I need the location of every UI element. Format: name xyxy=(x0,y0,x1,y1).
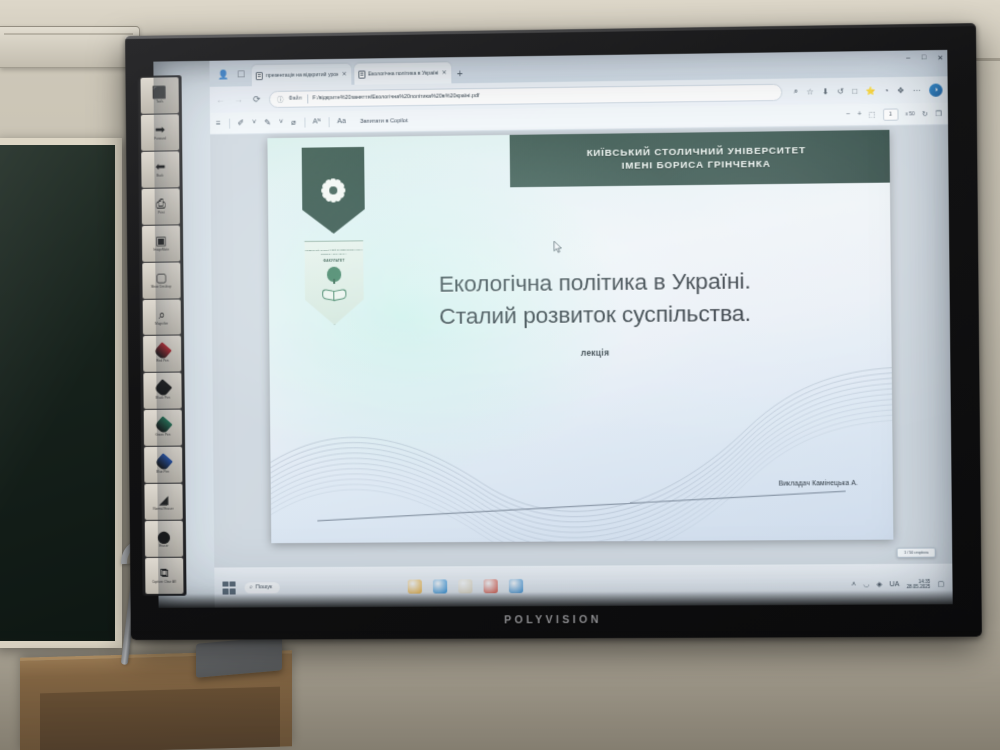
page-number-input[interactable]: 1 xyxy=(883,108,899,120)
erase-icon[interactable]: ⌀ xyxy=(291,118,296,127)
pen-icon xyxy=(154,453,172,471)
tab-favicon xyxy=(256,72,263,80)
rosette-flower-icon xyxy=(318,175,349,205)
start-icon[interactable] xyxy=(222,581,235,594)
slide-title-block: Екологічна політика в Україні. Сталий ро… xyxy=(331,264,861,360)
magnifier-icon: ⌕ xyxy=(158,309,165,321)
edge-browser-window[interactable]: 👤 ☐ презентація на відкритий урок ✕ Екол… xyxy=(209,50,952,608)
file-info-icon[interactable]: ⓘ xyxy=(277,94,284,104)
decorative-wave-lines xyxy=(270,367,894,543)
mouse-cursor-icon xyxy=(553,241,562,253)
close-button[interactable]: ✕ xyxy=(937,54,943,62)
address-bar[interactable]: ⓘ Файл F:/відкрите%20заняття/Екологічна%… xyxy=(269,83,783,107)
chevron-up-icon[interactable]: ˄ xyxy=(852,581,856,588)
search-icon[interactable]: ⌕ xyxy=(794,87,799,97)
rail-key-label: Blue Pen xyxy=(157,470,170,474)
rail-key-black-pen[interactable]: Black Pen xyxy=(143,373,181,409)
back-icon[interactable]: ← xyxy=(215,95,226,105)
window-controls[interactable]: – □ ✕ xyxy=(906,54,943,63)
camera-icon: ▣ xyxy=(155,235,166,247)
rail-key-capture-clear-all[interactable]: ⧉Capture Clear All xyxy=(145,558,183,594)
slide-subtitle: лекція xyxy=(332,345,861,360)
university-name-line1: КИЇВСЬКИЙ СТОЛИЧНИЙ УНІВЕРСИТЕТ xyxy=(587,145,806,159)
interactive-whiteboard[interactable]: POLYVISION ⬛Tools➡Forward⬅Back⎙Print▣Ima… xyxy=(125,23,982,640)
system-tray[interactable]: ˄ ◡ ◈ UA 14:35 28.05.2025 ▢ xyxy=(852,578,945,590)
toolbar-divider xyxy=(229,118,230,128)
favorite-star-icon[interactable]: ☆ xyxy=(806,87,813,96)
rail-key-label: ImageMate xyxy=(153,248,169,252)
rail-key-eraser[interactable]: ⬤Eraser xyxy=(145,521,183,557)
notification-icon[interactable]: ▢ xyxy=(937,580,944,588)
draw-icon[interactable]: ✎ xyxy=(264,118,271,127)
floor-shading xyxy=(0,630,1000,750)
close-icon[interactable]: ✕ xyxy=(442,69,447,76)
classroom-scene: POLYVISION ⬛Tools➡Forward⬅Back⎙Print▣Ima… xyxy=(0,0,1000,750)
whiteboard-tool-rail[interactable]: ⬛Tools➡Forward⬅Back⎙Print▣ImageMate▢Show… xyxy=(137,75,186,596)
capture-icon: ⧉ xyxy=(160,567,169,579)
omnibox-divider xyxy=(307,94,308,103)
page-view-icon[interactable]: ❐ xyxy=(935,109,942,117)
rail-key-magnifier[interactable]: ⌕Magnifier xyxy=(143,299,181,335)
rail-key-back[interactable]: ⬅Back xyxy=(141,151,179,187)
slide-header-band: КИЇВСЬКИЙ СТОЛИЧНИЙ УНІВЕРСИТЕТ ІМЕНІ БО… xyxy=(510,130,890,187)
rail-key-label: Capture Clear All xyxy=(152,580,176,584)
rail-key-normal-eraser[interactable]: ◢Normal Eraser xyxy=(144,484,182,520)
whiteboard-screen[interactable]: 👤 ☐ презентація на відкритий урок ✕ Екол… xyxy=(153,50,952,608)
chevron-down-icon[interactable]: ˅ xyxy=(279,119,283,126)
presentation-slide: КИЇВСЬКИЙ СТОЛИЧНИЙ УНІВЕРСИТЕТ ІМЕНІ БО… xyxy=(267,130,893,543)
rail-key-label: Forward xyxy=(154,137,165,141)
rail-key-label: Red Pen xyxy=(156,359,168,363)
tab-title: презентація на відкритий урок xyxy=(266,71,339,78)
browser-tab-2[interactable]: Екологічна політика в Україні ✕ xyxy=(354,62,451,85)
monitor-icon: ▢ xyxy=(156,272,167,284)
crest-caption-top: КИЇВСЬКИЙ СТОЛИЧНИЙ УНІВЕРСИТЕТ ІМЕНІ БО… xyxy=(304,248,365,256)
zoom-out-button[interactable]: − xyxy=(846,111,850,118)
chrome-icon[interactable] xyxy=(484,579,498,593)
rail-key-imagemate[interactable]: ▣ImageMate xyxy=(142,225,180,261)
clock-date: 28.05.2025 xyxy=(907,584,931,590)
edge-icon[interactable] xyxy=(433,579,447,593)
browser-tab-1[interactable]: презентація на відкритий урок ✕ xyxy=(252,64,351,86)
forward-icon[interactable]: → xyxy=(233,94,244,104)
rotate-icon[interactable]: ↻ xyxy=(922,110,928,118)
url-text[interactable]: F:/відкрите%20заняття/Екологічна%20політ… xyxy=(313,89,775,102)
tab-title: Екологічна політика в Україні xyxy=(368,70,439,77)
rail-key-forward[interactable]: ➡Forward xyxy=(141,114,179,150)
wall-duct xyxy=(0,26,140,68)
rail-key-tools[interactable]: ⬛Tools xyxy=(141,77,179,113)
language-icon[interactable]: UA xyxy=(889,581,899,588)
more-options-icon[interactable]: ⋯ xyxy=(913,85,921,94)
mail-icon[interactable] xyxy=(459,579,473,593)
rail-key-label: Eraser xyxy=(159,543,168,547)
taskbar-search-box[interactable]: ⌕ Пошук xyxy=(245,582,281,593)
rail-key-show-desktop[interactable]: ▢Show Desktop xyxy=(142,262,180,298)
toolbar-divider xyxy=(304,117,305,127)
tab-favicon xyxy=(358,70,365,78)
slide-author: Викладач Камінецька А. xyxy=(779,480,858,488)
minimize-button[interactable]: – xyxy=(906,55,910,63)
browser-icon[interactable] xyxy=(509,579,523,593)
maximize-button[interactable]: □ xyxy=(921,54,925,62)
history-icon[interactable]: ↺ xyxy=(837,86,844,95)
highlight-icon[interactable]: ✐ xyxy=(237,118,244,127)
text-options-icon[interactable]: Aa xyxy=(337,118,346,125)
copilot-icon[interactable]: ◑ xyxy=(929,83,943,96)
fit-page-icon[interactable]: ⬚ xyxy=(869,110,876,118)
rail-key-red-pen[interactable]: Red Pen xyxy=(143,336,181,372)
chevron-down-icon[interactable]: ˅ xyxy=(252,119,256,126)
file-explorer-icon[interactable] xyxy=(408,580,422,594)
ask-copilot-button[interactable]: Запитати в Copilot xyxy=(360,118,408,125)
zoom-in-button[interactable]: + xyxy=(857,111,861,118)
crest-banner xyxy=(302,147,365,234)
split-screen-icon[interactable]: □ xyxy=(852,86,857,95)
collections-icon[interactable]: ⭐ xyxy=(865,86,875,95)
downloads-icon[interactable]: ⬇ xyxy=(822,87,829,96)
taskbar-clock[interactable]: 14:35 28.05.2025 xyxy=(907,578,931,589)
rail-key-label: Black Pen xyxy=(156,396,170,400)
rail-key-label: Show Desktop xyxy=(151,285,171,289)
arrow-right-icon: ➡ xyxy=(155,124,165,136)
rail-key-green-pen[interactable]: Green Pen xyxy=(144,410,182,446)
printer-icon: ⎙ xyxy=(156,198,166,210)
rail-key-label: Print xyxy=(158,211,165,215)
page-total-label: з 50 xyxy=(905,111,915,117)
chalkboard xyxy=(0,138,122,648)
university-name-line2: ІМЕНІ БОРИСА ГРІНЧЕНКА xyxy=(622,159,771,172)
tab-actions-icon[interactable]: ☐ xyxy=(234,67,249,82)
arrow-left-icon: ⬅ xyxy=(155,161,165,173)
search-icon: ⌕ xyxy=(250,584,253,591)
extensions-icon[interactable]: ❖ xyxy=(897,86,904,95)
rail-key-print[interactable]: ⎙Print xyxy=(142,188,180,224)
read-aloud-icon[interactable]: Aᴺ xyxy=(313,118,321,125)
profile-icon[interactable]: 👤 xyxy=(216,67,231,82)
rail-key-label: Normal Eraser xyxy=(154,506,174,510)
rail-key-label: Tools xyxy=(156,100,163,104)
browser-toolbar-icons: ⌕☆⬇↺□⭐◔❖⋯◑ xyxy=(790,83,943,98)
pdf-viewer[interactable]: КИЇВСЬКИЙ СТОЛИЧНИЙ УНІВЕРСИТЕТ ІМЕНІ БО… xyxy=(210,125,952,568)
slide-title-line1: Екологічна політика в Україні. xyxy=(331,264,860,302)
search-placeholder: Пошук xyxy=(256,584,272,590)
rail-key-label: Magnifier xyxy=(155,322,168,326)
slide-title-line2: Сталий розвиток суспільства. xyxy=(331,296,860,333)
volume-icon[interactable]: ◈ xyxy=(877,580,883,588)
close-icon[interactable]: ✕ xyxy=(342,71,347,78)
pdf-page-controls[interactable]: − + ⬚ 1 з 50 ↻ ❐ xyxy=(846,107,942,120)
table-of-contents-icon[interactable]: ≡ xyxy=(216,119,221,128)
url-scheme-label: Файл xyxy=(289,96,302,102)
circle-eraser-icon: ⬤ xyxy=(157,530,171,542)
toolbox-icon: ⬛ xyxy=(152,87,167,99)
rail-key-label: Green Pen xyxy=(155,433,170,437)
eraser-icon: ◢ xyxy=(159,493,168,505)
rail-key-label: Back xyxy=(157,174,164,178)
browser-essentials-icon[interactable]: ◔ xyxy=(884,86,889,95)
rail-key-blue-pen[interactable]: Blue Pen xyxy=(144,447,182,483)
new-tab-button[interactable]: + xyxy=(457,69,463,80)
toolbar-divider xyxy=(329,117,330,127)
network-icon[interactable]: ◡ xyxy=(863,580,869,588)
reload-icon[interactable]: ⟳ xyxy=(251,94,262,105)
page-indicator-popup: 1 / 50 сторінка xyxy=(897,547,936,557)
crest-caption-main: ФАКУЛЬТЕТ xyxy=(323,259,344,263)
